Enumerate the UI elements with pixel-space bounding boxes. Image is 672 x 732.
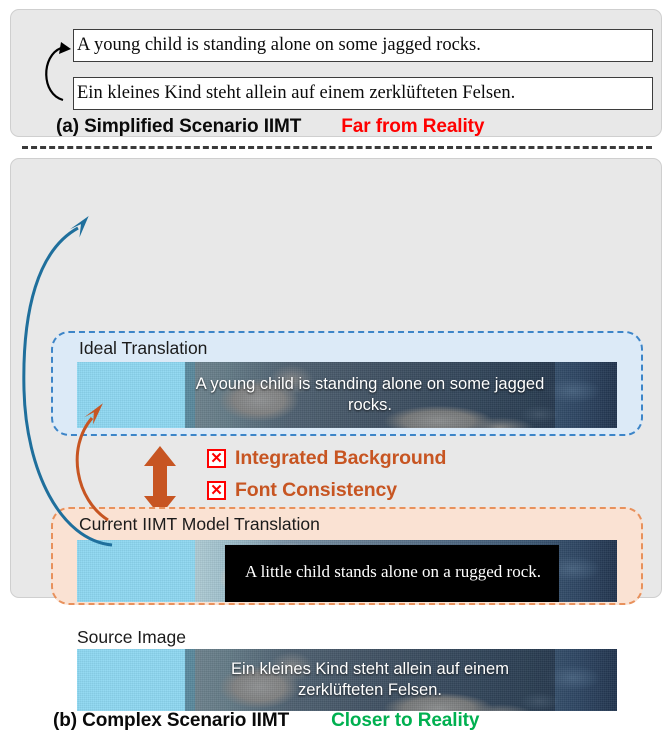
cross-icon: ✕ [207,481,226,500]
translation-arrow-icon [33,28,93,128]
panel-simplified-scenario: A young child is standing alone on some … [10,9,662,137]
bidirectional-arrow-icon [139,446,181,516]
textbox-target-sentence: A young child is standing alone on some … [73,29,653,62]
card-ideal-label: Ideal Translation [79,338,207,359]
caption-a-tag: Far from Reality [341,116,484,138]
image-source: Ein kleines Kind steht allein auf einem … [77,649,617,711]
image-source-text: Ein kleines Kind steht allein auf einem … [185,649,555,711]
panel-complex-scenario: Ideal Translation A young child is stand… [10,158,662,598]
caption-panel-b: (b) Complex Scenario IIMT Closer to Real… [53,710,479,732]
caption-panel-a: (a) Simplified Scenario IIMT Far from Re… [56,116,484,138]
label-source-image: Source Image [77,627,186,648]
card-current-label: Current IIMT Model Translation [79,514,320,535]
caption-b-tag: Closer to Reality [331,710,479,732]
requirement-2-label: Font Consistency [235,479,397,502]
caption-b-label: (b) Complex Scenario IIMT [53,710,289,732]
image-ideal-text: A young child is standing alone on some … [185,362,555,428]
textbox-source-sentence: Ein kleines Kind steht allein auf einem … [73,77,653,110]
image-current-model-translation: A little child stands alone on a rugged … [77,540,617,602]
image-ideal-translation: A young child is standing alone on some … [77,362,617,428]
cross-icon: ✕ [207,449,226,468]
panel-separator-dashed [22,146,652,149]
requirement-1-label: Integrated Background [235,447,446,470]
requirement-font-consistency: ✕ Font Consistency [207,479,397,502]
figure-root: A young child is standing alone on some … [0,0,672,611]
image-current-text: A little child stands alone on a rugged … [227,540,559,602]
caption-a-label: (a) Simplified Scenario IIMT [56,116,301,138]
requirement-integrated-background: ✕ Integrated Background [207,447,446,470]
